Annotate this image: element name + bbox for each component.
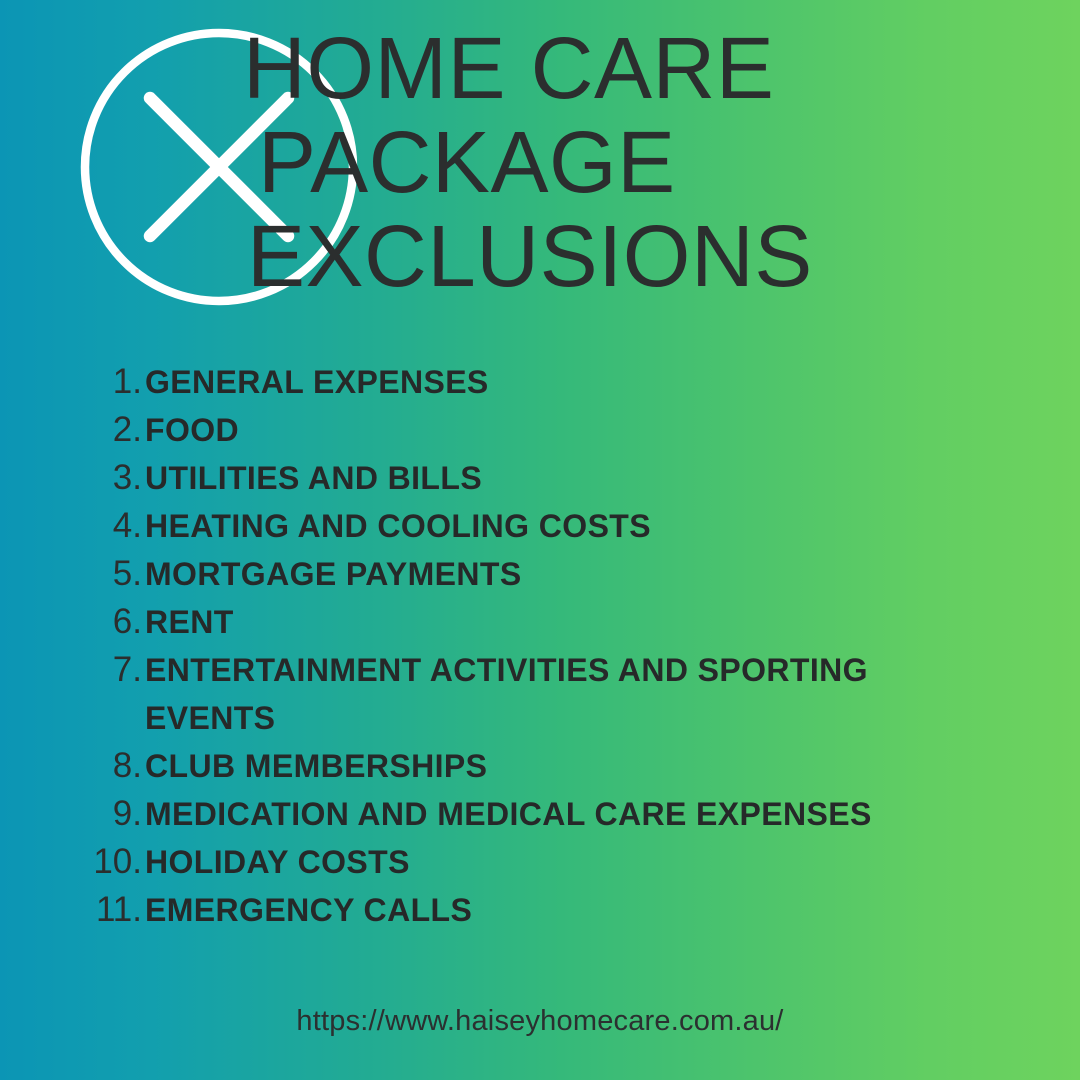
list-item-label: CLUB MEMBERSHIPS [145,742,487,790]
list-item-number: 8. [0,742,145,790]
list-item-number: 2. [0,406,145,454]
list-item: 5.MORTGAGE PAYMENTS [0,550,1080,598]
list-item-label: GENERAL EXPENSES [145,358,489,406]
list-item-label: EMERGENCY CALLS [145,886,472,934]
list-item-number: 9. [0,790,145,838]
list-item-label: HOLIDAY COSTS [145,838,410,886]
list-item-number: 1. [0,358,145,406]
list-item-label: ENTERTAINMENT ACTIVITIES AND SPORTING EV… [145,646,975,742]
list-item: 7.ENTERTAINMENT ACTIVITIES AND SPORTING … [0,646,1080,742]
list-item-number: 5. [0,550,145,598]
list-item: 8.CLUB MEMBERSHIPS [0,742,1080,790]
list-item: 2.FOOD [0,406,1080,454]
list-item-label: UTILITIES AND BILLS [145,454,482,502]
list-item: 10.HOLIDAY COSTS [0,838,1080,886]
list-item-label: FOOD [145,406,239,454]
list-item: 4.HEATING AND COOLING COSTS [0,502,1080,550]
footer-website-url[interactable]: https://www.haiseyhomecare.com.au/ [0,1005,1080,1038]
poster-canvas: HOME CARE PACKAGE EXCLUSIONS 1.GENERAL E… [0,0,1080,1080]
list-item: 6.RENT [0,598,1080,646]
list-item-number: 6. [0,598,145,646]
list-item-number: 10. [0,838,145,886]
list-item-number: 4. [0,502,145,550]
list-item-label: MORTGAGE PAYMENTS [145,550,522,598]
list-item: 1.GENERAL EXPENSES [0,358,1080,406]
list-item-label: HEATING AND COOLING COSTS [145,502,651,550]
list-item: 3.UTILITIES AND BILLS [0,454,1080,502]
list-item-number: 7. [0,646,145,694]
list-item-number: 3. [0,454,145,502]
exclusions-list: 1.GENERAL EXPENSES2.FOOD3.UTILITIES AND … [0,358,1080,934]
circle-x-icon [80,28,358,306]
list-item-label: RENT [145,598,234,646]
list-item: 11.EMERGENCY CALLS [0,886,1080,934]
list-item-label: MEDICATION AND MEDICAL CARE EXPENSES [145,790,872,838]
list-item-number: 11. [0,886,145,934]
list-item: 9.MEDICATION AND MEDICAL CARE EXPENSES [0,790,1080,838]
